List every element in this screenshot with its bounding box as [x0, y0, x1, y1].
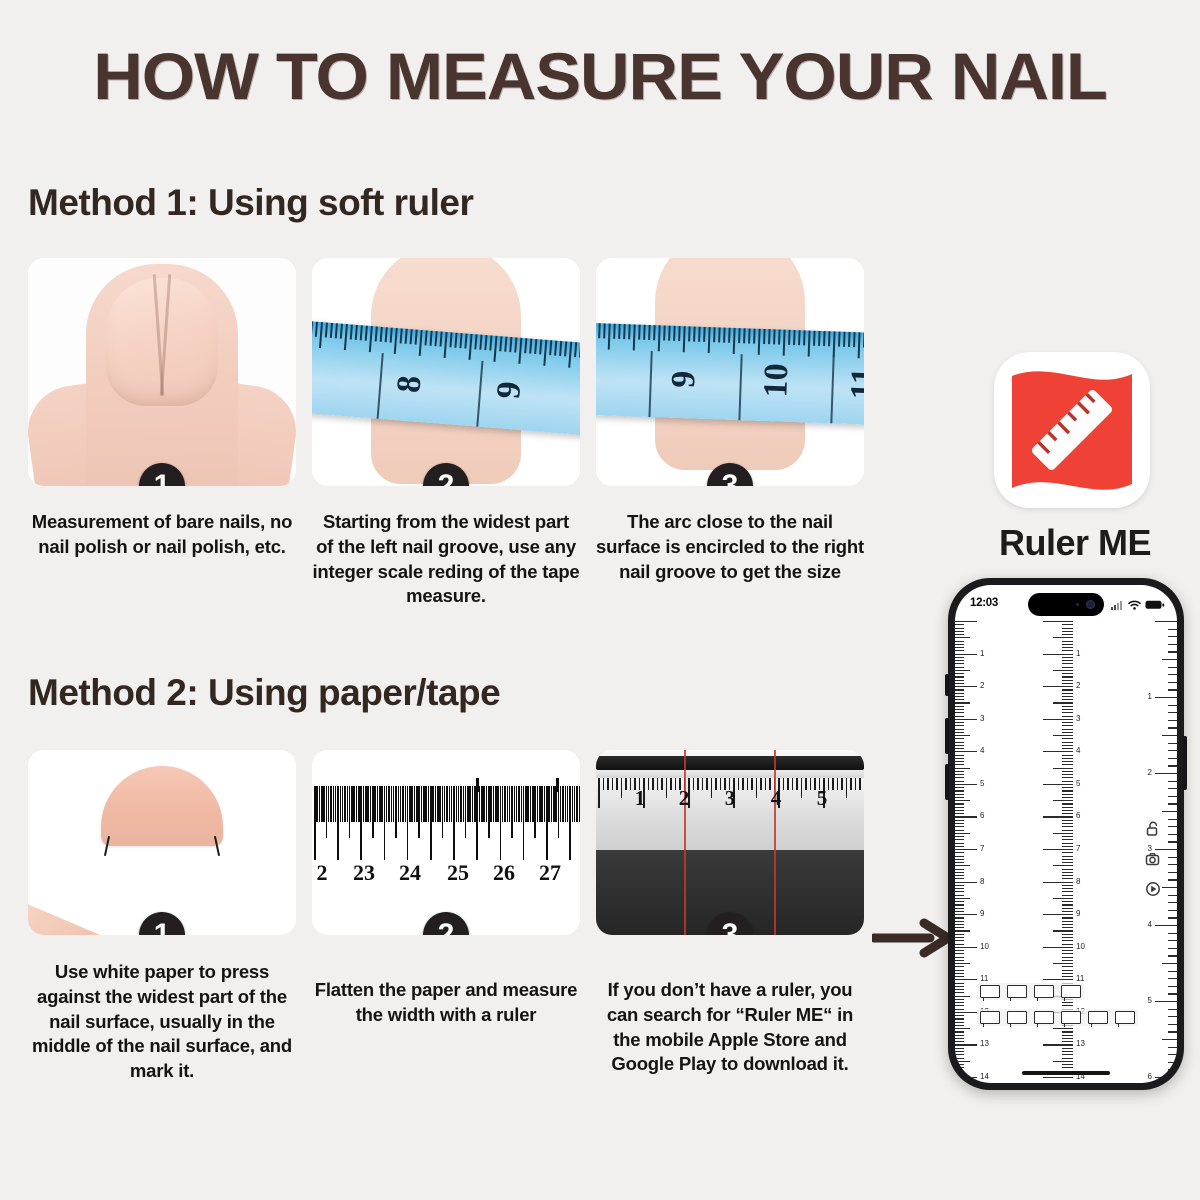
method-2-step-2-caption: Flatten the paper and measure the width … — [312, 978, 580, 1028]
method-2-step-2-photo: 2 23 24 25 26 27 2 — [312, 750, 580, 935]
lock-icon[interactable] — [1145, 821, 1161, 837]
power-button[interactable] — [1183, 736, 1187, 790]
method-1-step-3-card: 9 10 11 3 The arc close to the nail surf… — [596, 258, 864, 486]
ruler-number: 27 — [539, 860, 561, 886]
paper-ruler-image: 2 23 24 25 26 27 — [312, 750, 580, 935]
app-name-label: Ruler ME — [960, 522, 1190, 564]
phone-mockup: 12:03 — [948, 578, 1184, 1090]
method-1-step-3-photo: 9 10 11 3 — [596, 258, 864, 486]
dynamic-island — [1028, 593, 1104, 616]
method-2-step-1-card: 1 Use white paper to press against the w… — [28, 750, 296, 935]
ruler-number: 24 — [399, 860, 421, 886]
measurement-chip[interactable] — [1007, 1011, 1027, 1024]
cellular-signal-icon — [1111, 597, 1124, 615]
method-2-step-3-photo: 1 2 3 4 5 3 — [596, 750, 864, 935]
record-icon[interactable] — [1145, 881, 1161, 897]
measurement-chip[interactable] — [1115, 1011, 1135, 1024]
ruler-me-app-icon[interactable] — [994, 352, 1150, 508]
battery-icon — [1145, 597, 1165, 615]
tape-measure-image-2: 8 9 10 — [312, 258, 580, 486]
silent-switch[interactable] — [945, 674, 949, 696]
method-1-step-1-card: 1 Measurement of bare nails, no nail pol… — [28, 258, 296, 486]
measurement-chip[interactable] — [1034, 1011, 1054, 1024]
sensor-dot — [1076, 603, 1079, 606]
page-title: HOW TO MEASURE YOUR NAIL — [0, 38, 1200, 114]
method-2-step-1-caption: Use white paper to press against the wid… — [28, 960, 296, 1084]
measurement-chip-row-2[interactable] — [977, 1009, 1138, 1026]
measurement-chip[interactable] — [1007, 985, 1027, 998]
front-camera-icon — [1086, 600, 1095, 609]
method-1-step-2-card: 8 9 10 2 Starting from the widest part o… — [312, 258, 580, 486]
measurement-chip[interactable] — [1061, 985, 1081, 998]
method-1-step-2-photo: 8 9 10 2 — [312, 258, 580, 486]
tape-number: 9 — [665, 370, 704, 388]
tape-measure-image-3: 9 10 11 — [596, 258, 864, 486]
ruler-number: 2 — [679, 786, 690, 811]
status-bar-time: 12:03 — [970, 597, 998, 609]
status-bar-indicators — [1111, 597, 1165, 615]
ruler-number: 5 — [817, 786, 828, 811]
volume-up-button[interactable] — [945, 718, 949, 754]
ruler-number: 23 — [353, 860, 375, 886]
tape-tick-marks — [596, 323, 864, 364]
ruler-number: 1 — [635, 786, 646, 811]
steel-ruler-image: 1 2 3 4 5 — [596, 750, 864, 935]
home-indicator[interactable] — [1022, 1071, 1110, 1075]
method-2-heading: Method 2: Using paper/tape — [28, 672, 500, 714]
method-1-step-2-caption: Starting from the widest part of the lef… — [312, 510, 580, 609]
measurement-chip[interactable] — [980, 985, 1000, 998]
tape-number: 9 — [490, 380, 529, 400]
nail-on-paper-image — [28, 750, 296, 935]
ruler-number: 25 — [447, 860, 469, 886]
measurement-chip[interactable] — [1034, 985, 1054, 998]
method-2-step-1-photo: 1 — [28, 750, 296, 935]
volume-down-button[interactable] — [945, 764, 949, 800]
tape-number: 8 — [390, 374, 429, 394]
tape-number: 11 — [844, 367, 864, 400]
camera-icon[interactable] — [1145, 851, 1161, 867]
method-2-step-3-caption: If you don’t have a ruler, you can searc… — [596, 978, 864, 1077]
method-1-step-1-photo: 1 — [28, 258, 296, 486]
bare-thumbnail-image — [28, 258, 296, 486]
measurement-chip[interactable] — [980, 1011, 1000, 1024]
ruler-number: 3 — [725, 786, 736, 811]
method-2-step-2-card: 2 23 24 25 26 27 2 Flatten the paper and… — [312, 750, 580, 935]
ruler-number: 2 — [317, 860, 328, 886]
measurement-chip[interactable] — [1088, 1011, 1108, 1024]
method-1-step-1-caption: Measurement of bare nails, no nail polis… — [28, 510, 296, 560]
ruler-number: 4 — [771, 786, 782, 811]
method-1-step-3-caption: The arc close to the nail surface is enc… — [596, 510, 864, 584]
ruler-me-app-screen[interactable]: 12:03 — [955, 585, 1177, 1083]
method-2-step-3-card: 1 2 3 4 5 3 If you don’t have a ruler, y… — [596, 750, 864, 935]
method-1-heading: Method 1: Using soft ruler — [28, 182, 473, 224]
measurement-chip[interactable] — [1061, 1011, 1081, 1024]
ruler-number: 26 — [493, 860, 515, 886]
wifi-icon — [1128, 597, 1141, 615]
measurement-chip-row-1[interactable] — [977, 983, 1084, 1000]
tape-number: 10 — [757, 363, 796, 398]
